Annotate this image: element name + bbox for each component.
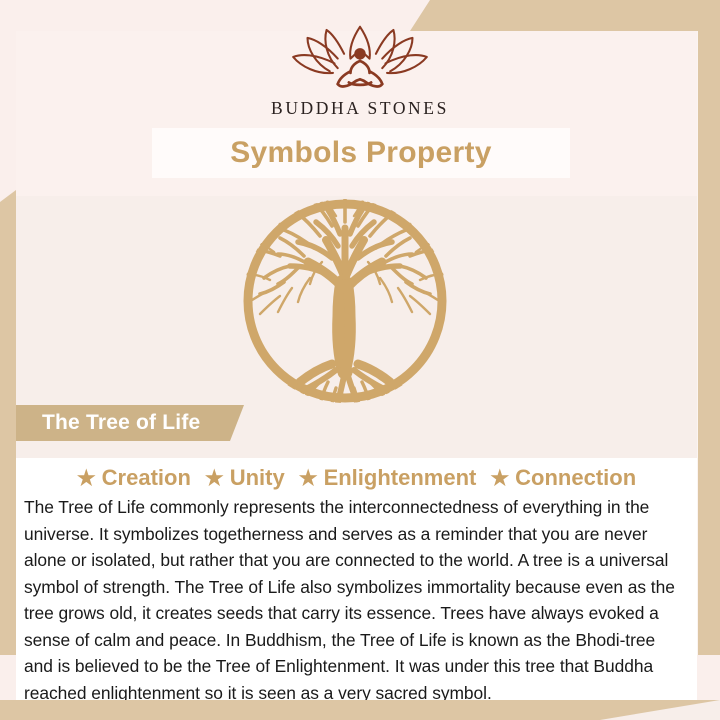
- decorative-band-left: [0, 190, 16, 655]
- symbol-illustration: [240, 196, 450, 406]
- brand-name: BUDDHA STONES: [0, 98, 720, 119]
- star-icon: ★: [299, 468, 318, 489]
- keyword-label: Creation: [102, 465, 191, 491]
- title-banner: Symbols Property: [152, 128, 570, 178]
- symbol-name-label: The Tree of Life: [42, 411, 200, 435]
- keyword-label: Enlightenment: [324, 465, 477, 491]
- brand-logo: BUDDHA STONES: [0, 22, 720, 119]
- keyword-item-enlightenment: ★ Enlightenment: [299, 465, 477, 491]
- keyword-item-creation: ★ Creation: [77, 465, 191, 491]
- star-icon: ★: [77, 468, 96, 489]
- star-icon: ★: [205, 468, 224, 489]
- decorative-band-right: [697, 31, 720, 655]
- tree-of-life-icon: [240, 196, 450, 406]
- description-text: The Tree of Life commonly represents the…: [24, 494, 687, 706]
- page-title: Symbols Property: [230, 136, 492, 170]
- keyword-item-unity: ★ Unity: [205, 465, 285, 491]
- meditating-buddha-lotus-icon: [280, 22, 440, 92]
- keyword-item-connection: ★ Connection: [490, 465, 636, 491]
- keyword-label: Connection: [515, 465, 636, 491]
- description-card: ★ Creation ★ Unity ★ Enlightenment ★ Con…: [16, 458, 697, 700]
- symbol-name-tag: The Tree of Life: [16, 405, 244, 441]
- keyword-label: Unity: [230, 465, 285, 491]
- decorative-band-bottom: [0, 700, 720, 720]
- poster-root: BUDDHA STONES Symbols Property: [0, 0, 720, 720]
- star-icon: ★: [490, 468, 509, 489]
- keyword-list: ★ Creation ★ Unity ★ Enlightenment ★ Con…: [16, 458, 697, 491]
